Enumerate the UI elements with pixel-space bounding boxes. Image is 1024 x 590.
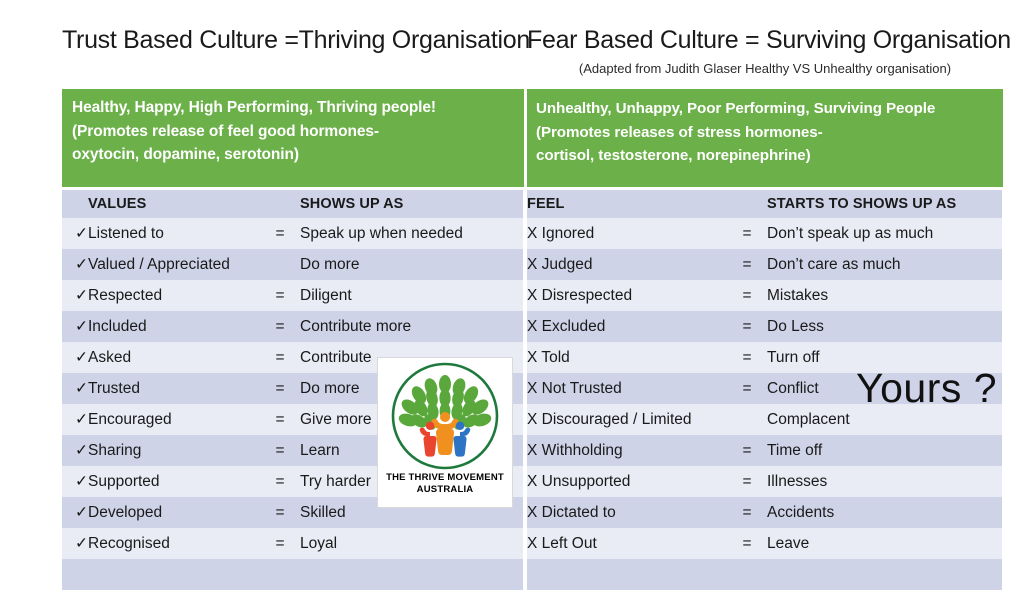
- equals-sign: =: [260, 466, 300, 497]
- equals-sign: =: [260, 280, 300, 311]
- value-term: Respected: [88, 280, 260, 311]
- value-term: Developed: [88, 497, 260, 528]
- equals-sign: =: [727, 218, 767, 249]
- equals-sign: =: [727, 466, 767, 497]
- left-column-title: Trust Based Culture =Thriving Organisati…: [62, 26, 524, 55]
- table-row: [62, 559, 523, 590]
- table-row: ✓Valued / AppreciatedDo more: [62, 249, 523, 280]
- equals-sign: =: [727, 497, 767, 528]
- table-row: X Unsupported=Illnesses: [527, 466, 1002, 497]
- feel-term: X Withholding: [527, 435, 727, 466]
- right-column-title: Fear Based Culture = Surviving Organisat…: [527, 26, 1003, 55]
- feel-term: X Dictated to: [527, 497, 727, 528]
- starts-to-shows-up-as-value: Mistakes: [767, 280, 1002, 311]
- value-term: Encouraged: [88, 404, 260, 435]
- shows-up-as-value: [300, 559, 523, 590]
- starts-to-shows-up-as-value: Don’t care as much: [767, 249, 1002, 280]
- starts-to-shows-up-as-value: Illnesses: [767, 466, 1002, 497]
- equals-sign: =: [260, 404, 300, 435]
- value-term: Included: [88, 311, 260, 342]
- table-row: X Judged=Don’t care as much: [527, 249, 1002, 280]
- table-row: X Disrespected=Mistakes: [527, 280, 1002, 311]
- check-icon: ✓: [62, 280, 88, 311]
- table-row: X Withholding=Time off: [527, 435, 1002, 466]
- unhealthy-banner-line-1: Unhealthy, Unhappy, Poor Performing, Sur…: [536, 97, 1002, 121]
- check-icon: ✓: [62, 497, 88, 528]
- value-term: [88, 559, 260, 590]
- equals-sign: =: [727, 342, 767, 373]
- table-row: X Ignored=Don’t speak up as much: [527, 218, 1002, 249]
- feel-term: X Unsupported: [527, 466, 727, 497]
- check-icon: ✓: [62, 466, 88, 497]
- healthy-banner-line-2: (Promotes release of feel good hormones-: [72, 120, 524, 144]
- healthy-banner-line-1: Healthy, Happy, High Performing, Thrivin…: [72, 96, 524, 120]
- left-header-spacer: [62, 190, 88, 218]
- starts-to-shows-up-as-value: Time off: [767, 435, 1002, 466]
- shows-up-as-value: Speak up when needed: [300, 218, 523, 249]
- table-row: X Left Out=Leave: [527, 528, 1002, 559]
- value-term: Recognised: [88, 528, 260, 559]
- check-icon: [62, 559, 88, 590]
- healthy-banner-line-3: oxytocin, dopamine, serotonin): [72, 143, 524, 167]
- yours-callout: Yours ?: [856, 365, 997, 412]
- equals-sign: [260, 559, 300, 590]
- equals-sign: =: [260, 435, 300, 466]
- check-icon: ✓: [62, 435, 88, 466]
- feel-term: [527, 559, 727, 590]
- value-term: Supported: [88, 466, 260, 497]
- value-term: Valued / Appreciated: [88, 249, 260, 280]
- starts-to-shows-up-as-value: Do Less: [767, 311, 1002, 342]
- table-row: X Excluded=Do Less: [527, 311, 1002, 342]
- thrive-tree-icon: [386, 360, 504, 472]
- equals-sign: =: [260, 497, 300, 528]
- equals-sign: =: [727, 249, 767, 280]
- equals-sign: [260, 249, 300, 280]
- equals-sign: [727, 559, 767, 590]
- equals-sign: =: [727, 373, 767, 404]
- equals-sign: =: [727, 435, 767, 466]
- right-table-header-row: FEEL STARTS TO SHOWS UP AS: [527, 190, 1002, 218]
- equals-sign: =: [260, 218, 300, 249]
- unhealthy-banner: Unhealthy, Unhappy, Poor Performing, Sur…: [527, 89, 1003, 187]
- feel-term: X Ignored: [527, 218, 727, 249]
- right-header-feel: FEEL: [527, 190, 727, 218]
- value-term: Trusted: [88, 373, 260, 404]
- check-icon: ✓: [62, 311, 88, 342]
- value-term: Asked: [88, 342, 260, 373]
- equals-sign: [727, 404, 767, 435]
- left-header-eq-spacer: [260, 190, 300, 218]
- check-icon: ✓: [62, 528, 88, 559]
- shows-up-as-value: Contribute more: [300, 311, 523, 342]
- check-icon: ✓: [62, 218, 88, 249]
- thrive-movement-logo: THE THRIVE MOVEMENT AUSTRALIA: [377, 357, 513, 508]
- equals-sign: =: [727, 280, 767, 311]
- healthy-banner: Healthy, Happy, High Performing, Thrivin…: [62, 89, 524, 187]
- starts-to-shows-up-as-value: Don’t speak up as much: [767, 218, 1002, 249]
- equals-sign: =: [260, 342, 300, 373]
- check-icon: ✓: [62, 342, 88, 373]
- feel-term: X Told: [527, 342, 727, 373]
- left-header-shows-up-as: SHOWS UP AS: [300, 190, 523, 218]
- equals-sign: =: [727, 528, 767, 559]
- table-row: [527, 559, 1002, 590]
- feel-term: X Not Trusted: [527, 373, 727, 404]
- feel-term: X Judged: [527, 249, 727, 280]
- check-icon: ✓: [62, 404, 88, 435]
- starts-to-shows-up-as-value: Leave: [767, 528, 1002, 559]
- right-header-eq-spacer: [727, 190, 767, 218]
- logo-text-line-1: THE THRIVE MOVEMENT: [378, 472, 512, 484]
- table-row: ✓Included=Contribute more: [62, 311, 523, 342]
- shows-up-as-value: Loyal: [300, 528, 523, 559]
- left-header-values: VALUES: [88, 190, 260, 218]
- equals-sign: =: [260, 528, 300, 559]
- value-term: Sharing: [88, 435, 260, 466]
- right-header-starts-to-shows-up-as: STARTS TO SHOWS UP AS: [767, 190, 1002, 218]
- check-icon: ✓: [62, 249, 88, 280]
- equals-sign: =: [260, 373, 300, 404]
- shows-up-as-value: Diligent: [300, 280, 523, 311]
- logo-text-line-2: AUSTRALIA: [378, 484, 512, 496]
- check-icon: ✓: [62, 373, 88, 404]
- equals-sign: =: [727, 311, 767, 342]
- right-column-subtitle: (Adapted from Judith Glaser Healthy VS U…: [527, 61, 1003, 76]
- equals-sign: =: [260, 311, 300, 342]
- starts-to-shows-up-as-value: [767, 559, 1002, 590]
- left-table-header-row: VALUES SHOWS UP AS: [62, 190, 523, 218]
- table-row: X Dictated to=Accidents: [527, 497, 1002, 528]
- unhealthy-banner-line-3: cortisol, testosterone, norepinephrine): [536, 144, 1002, 168]
- feel-term: X Excluded: [527, 311, 727, 342]
- feel-term: X Left Out: [527, 528, 727, 559]
- starts-to-shows-up-as-value: Accidents: [767, 497, 1002, 528]
- feel-term: X Discouraged / Limited: [527, 404, 727, 435]
- unhealthy-banner-line-2: (Promotes releases of stress hormones-: [536, 121, 1002, 145]
- feel-term: X Disrespected: [527, 280, 727, 311]
- table-row: ✓Recognised=Loyal: [62, 528, 523, 559]
- table-row: ✓Listened to=Speak up when needed: [62, 218, 523, 249]
- table-row: ✓Respected=Diligent: [62, 280, 523, 311]
- value-term: Listened to: [88, 218, 260, 249]
- shows-up-as-value: Do more: [300, 249, 523, 280]
